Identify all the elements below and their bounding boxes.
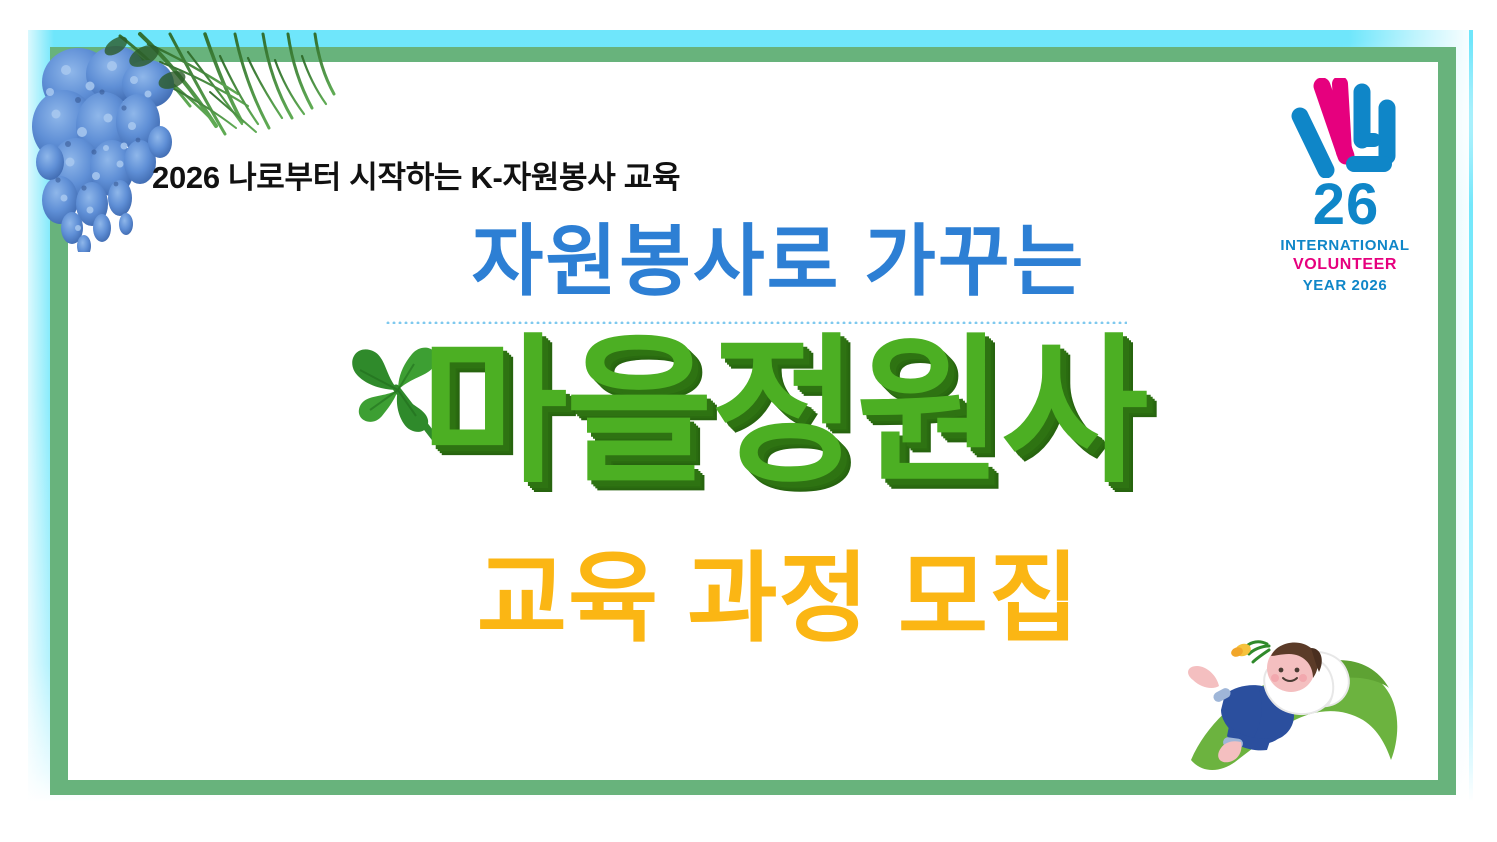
poster-kicker: 2026 나로부터 시작하는 K-자원봉사 교육	[152, 152, 680, 197]
svg-text:26: 26	[1313, 174, 1380, 232]
logo-line-international: INTERNATIONAL	[1270, 236, 1420, 255]
poster-canvas: 2026 나로부터 시작하는 K-자원봉사 교육 자원봉사로 가꾸는 마을정원사…	[0, 0, 1497, 842]
poster-title-green: 마을정원사	[420, 332, 1146, 492]
poster-title-wrap: 마을정원사	[0, 332, 1497, 492]
ivy26-logo: 26 INTERNATIONAL VOLUNTEER YEAR 2026	[1270, 78, 1420, 303]
logo-year-number: 26	[1290, 174, 1402, 232]
ivy-hand-mark-icon	[1286, 78, 1404, 178]
logo-line-year: YEAR 2026	[1270, 276, 1420, 295]
person-on-leaf-illustration	[1163, 598, 1413, 788]
logo-text-block: INTERNATIONAL VOLUNTEER YEAR 2026	[1270, 236, 1420, 295]
logo-line-volunteer: VOLUNTEER	[1270, 255, 1420, 275]
